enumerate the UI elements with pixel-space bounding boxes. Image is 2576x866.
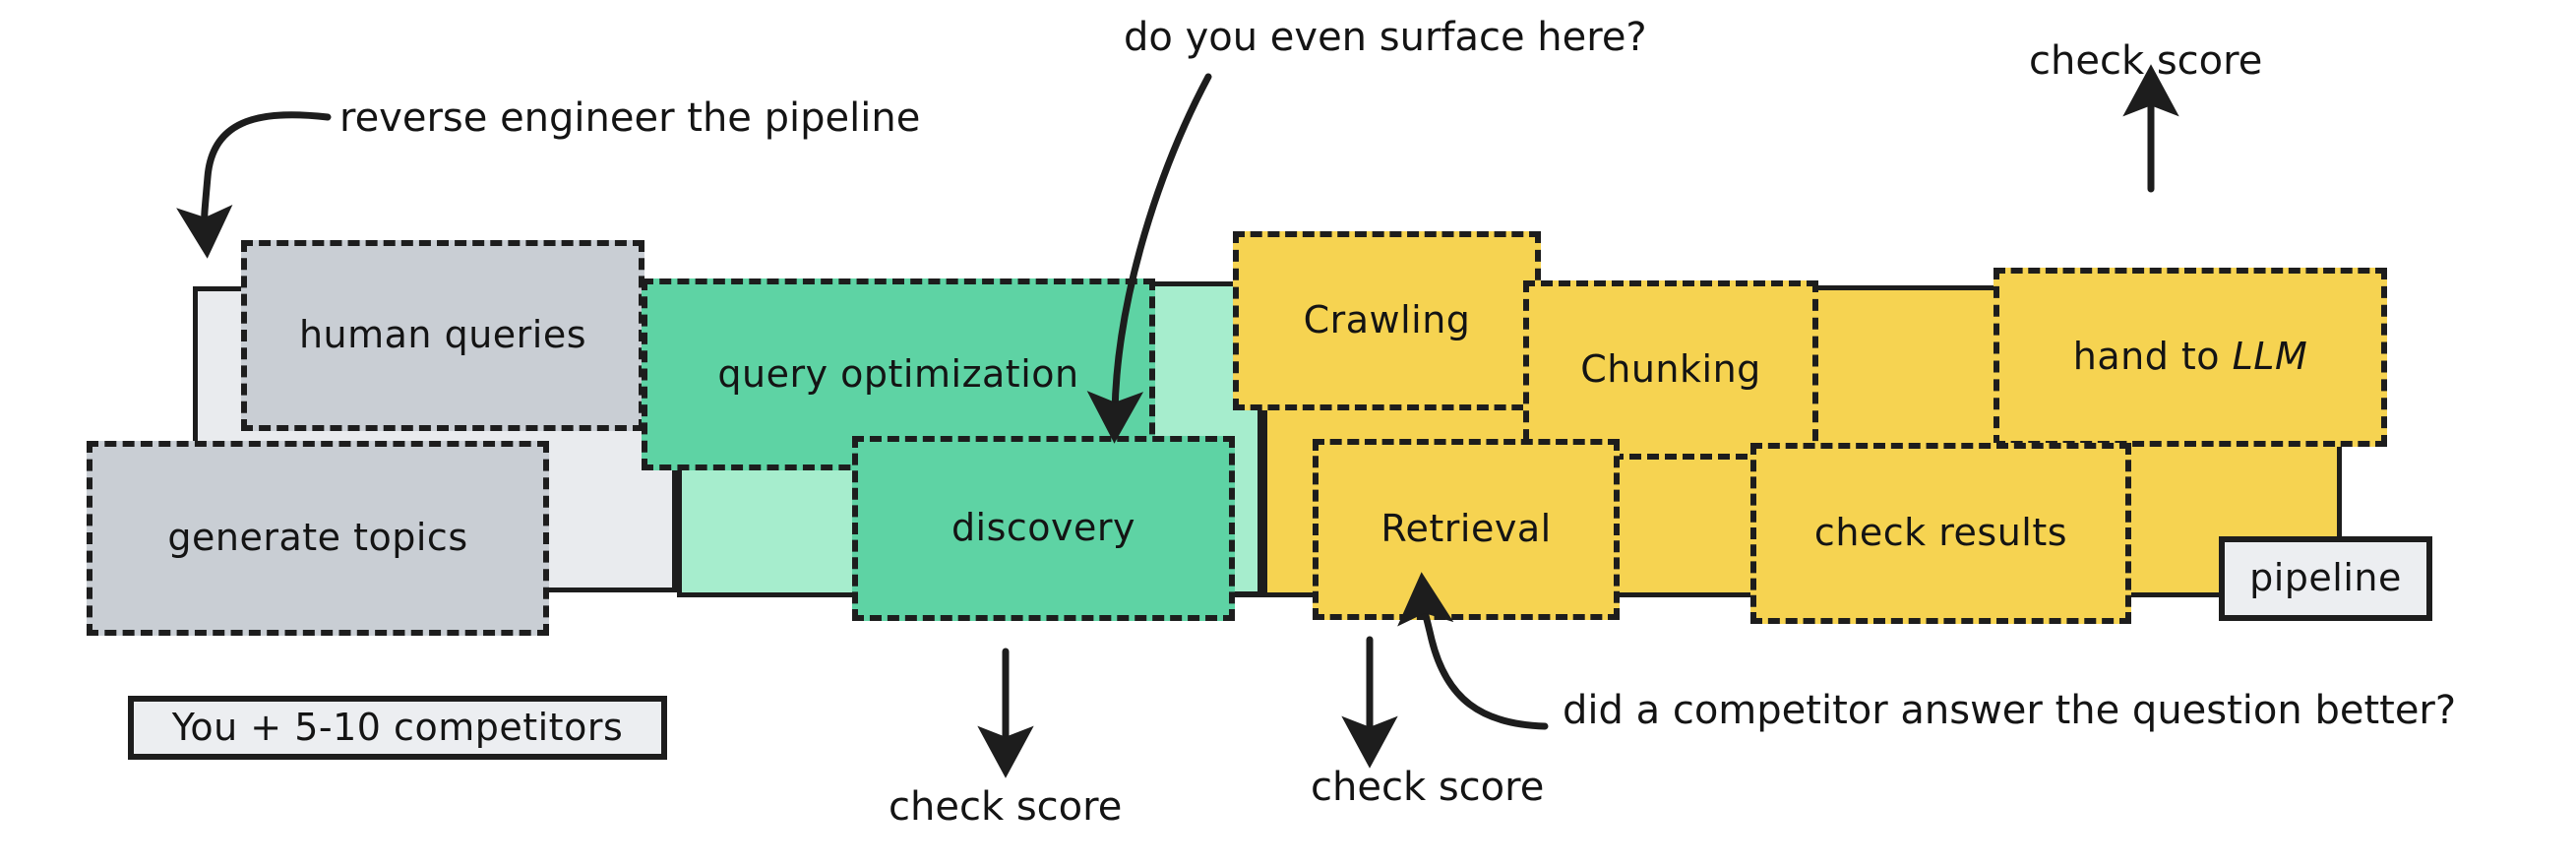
annotation-surface-here: do you even surface here?	[1124, 18, 1647, 57]
diagram-canvas: human queries generate topics query opti…	[0, 0, 2576, 866]
stage-chunking-label: Chunking	[1580, 349, 1761, 391]
annotation-surface-here-text: do you even surface here?	[1124, 15, 1647, 60]
stage-hand-to-llm-label-emph: LLM	[2233, 335, 2308, 378]
stage-hand-to-llm-label: hand to LLM	[2073, 337, 2308, 378]
stage-discovery[interactable]: discovery	[852, 436, 1235, 621]
annotation-reverse-engineer: reverse engineer the pipeline	[339, 98, 920, 138]
annotation-competitor-answer: did a competitor answer the question bet…	[1563, 691, 2456, 730]
stage-crawling-label: Crawling	[1304, 300, 1471, 341]
arrow-reverse-engineer	[205, 115, 328, 228]
annotation-check-score-discovery: check score	[889, 787, 1122, 827]
arrow-competitor-answer	[1424, 602, 1545, 726]
stage-check-results-label: check results	[1814, 513, 2067, 554]
annotation-competitor-answer-text: did a competitor answer the question bet…	[1563, 688, 2456, 733]
annotation-check-score-llm: check score	[2029, 41, 2262, 81]
stage-generate-topics-label: generate topics	[167, 518, 467, 559]
stage-discovery-label: discovery	[951, 508, 1135, 549]
stage-human-queries-label: human queries	[299, 315, 586, 356]
legend-pipeline-label: pipeline	[2249, 558, 2402, 599]
stage-hand-to-llm[interactable]: hand to LLM	[1993, 268, 2387, 447]
stage-hand-to-llm-label-text: hand to	[2073, 335, 2233, 378]
stage-check-results[interactable]: check results	[1750, 443, 2131, 624]
annotation-reverse-engineer-text: reverse engineer the pipeline	[339, 95, 920, 141]
annotation-check-score-llm-text: check score	[2029, 38, 2262, 84]
stage-retrieval-label: Retrieval	[1380, 509, 1551, 550]
legend-pipeline[interactable]: pipeline	[2219, 536, 2432, 621]
stage-retrieval[interactable]: Retrieval	[1313, 439, 1620, 620]
legend-competitors-label: You + 5-10 competitors	[172, 708, 624, 749]
stage-generate-topics[interactable]: generate topics	[87, 441, 549, 636]
annotation-check-score-discovery-text: check score	[889, 784, 1122, 830]
stage-crawling[interactable]: Crawling	[1233, 231, 1541, 410]
stage-human-queries[interactable]: human queries	[241, 240, 644, 431]
annotation-check-score-retrieval-text: check score	[1311, 765, 1544, 810]
stage-chunking[interactable]: Chunking	[1523, 280, 1818, 460]
legend-competitors[interactable]: You + 5-10 competitors	[128, 696, 667, 760]
annotation-check-score-retrieval: check score	[1311, 768, 1544, 807]
stage-query-optimization-label: query optimization	[717, 354, 1078, 396]
